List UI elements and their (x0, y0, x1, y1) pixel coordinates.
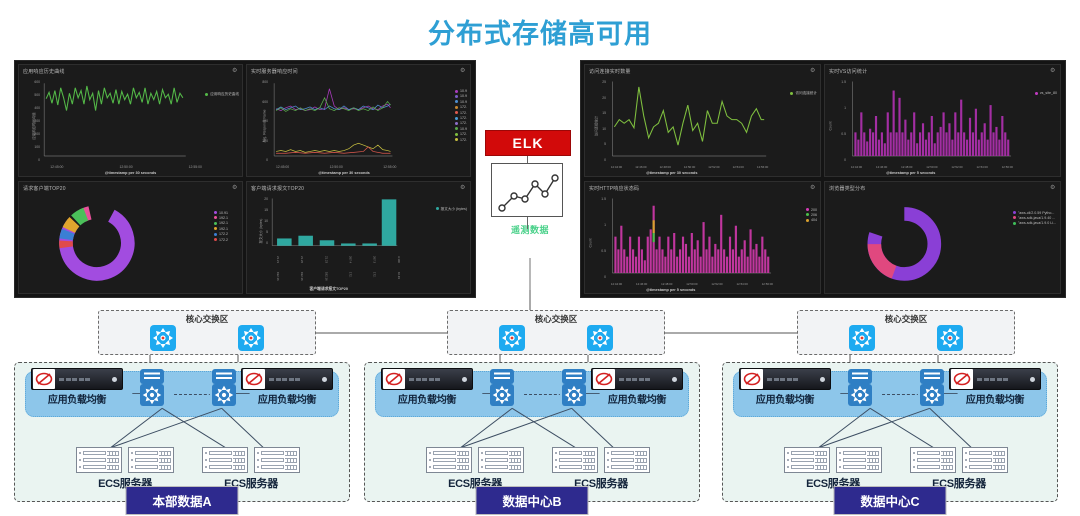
brand-logo-icon (951, 369, 973, 389)
panel-title: 客户端请求报文TOP20 (247, 182, 470, 192)
brand-logo-icon (383, 369, 405, 389)
load-balancer-device-icon (241, 368, 333, 390)
panel-title: 实时VS访问统计 (825, 65, 1060, 75)
ecs-racks (899, 447, 1019, 473)
bar-chart-svg (585, 193, 820, 293)
server-rack-icon (552, 447, 598, 473)
data-center-b[interactable]: 应用负载均衡 应用负载均衡 (364, 362, 700, 502)
server-rack-icon (76, 447, 122, 473)
legend-item: 应用响应历史曲线 (205, 92, 239, 97)
elk-stem-2 (527, 217, 528, 229)
chart-legend[interactable]: 应用响应历史曲线 (205, 92, 239, 97)
x-axis-ticks-2: 192.16 192.16 192.16 172. 172. 10.91 (276, 272, 401, 281)
legend-item: 访问连接统计 (790, 91, 817, 96)
elk-collector[interactable]: ELK 遥测数据 (485, 130, 575, 258)
panel-title: 请求客户端TOP20 (19, 182, 242, 192)
x-axis-label: 客户端请求报文TOP20 (247, 287, 470, 292)
x-axis-ticks: 12:45:0012:50:0012:55:00 (276, 165, 396, 169)
gear-icon[interactable]: ⚙ (232, 68, 238, 74)
brand-logo-icon (243, 369, 265, 389)
panel-client-request-bytes[interactable]: 客户端请求报文TOP20 ⚙ 报文大小 (bytes) 20151050 21.… (246, 181, 471, 294)
legend-item: 172. (455, 138, 467, 143)
dashboard-right[interactable]: 访问连接实时数量 ⚙ 访问连接统计 2520151050 12:44:0012:… (580, 60, 1066, 298)
gear-icon[interactable]: ⚙ (1050, 68, 1056, 74)
x-axis-ticks: 12:44:0012:46:0012:48:0012:50:0012:52:00… (611, 165, 768, 169)
line-chart-svg (585, 76, 820, 176)
load-balancer-right[interactable]: 应用负载均衡 (939, 368, 1051, 406)
data-center-a[interactable]: 应用负载均衡 应用负载均衡 (14, 362, 350, 502)
chart-legend[interactable]: "aws-cli/2.0.59 Pytho... "aws-sdk-java/1… (1013, 211, 1056, 227)
load-balancer-right[interactable]: 应用负载均衡 (581, 368, 693, 406)
x-axis-label: @timestamp per 30 seconds (585, 171, 820, 175)
load-balancer-left[interactable]: 应用负载均衡 (729, 368, 841, 406)
donut-chart-svg (825, 193, 1060, 293)
panel-title: 实时HTTP响应状态码 (585, 182, 820, 192)
network-switch-icon[interactable] (238, 325, 264, 356)
network-switch-icon[interactable] (937, 325, 963, 356)
core-router-icon[interactable] (211, 369, 237, 412)
core-switch-zone-b[interactable]: 核心交换区 (447, 310, 665, 355)
load-balancer-label: 应用负载均衡 (21, 391, 133, 406)
ecs-racks (541, 447, 661, 473)
load-balancer-left[interactable]: 应用负载均衡 (21, 368, 133, 406)
brand-logo-icon (593, 369, 615, 389)
gear-icon[interactable]: ⚙ (232, 185, 238, 191)
chart-legend[interactable]: vs_site_80 (1035, 91, 1057, 96)
chart-legend[interactable]: 访问连接统计 (790, 91, 817, 96)
elk-caption: 遥测数据 (485, 223, 575, 236)
network-switch-icon[interactable] (150, 325, 176, 356)
dashboard-left[interactable]: 应用响应历史曲线 ⚙ 应用响应时间均值 6005004003002001000 … (14, 60, 476, 298)
ecs-racks (415, 447, 535, 473)
ecs-group-right[interactable]: ECS服务器 (191, 447, 311, 491)
load-balancer-device-icon (949, 368, 1041, 390)
chart-legend[interactable]: 200 206 404 (806, 208, 817, 224)
network-switch-icon[interactable] (499, 325, 525, 356)
data-center-badge: 数据中心C (833, 486, 946, 515)
x-axis-ticks: 12:45:0012:50:0012:55:00 (50, 165, 202, 169)
server-rack-icon (604, 447, 650, 473)
network-switch-icon[interactable] (587, 325, 613, 356)
panel-http-status-codes[interactable]: 实时HTTP响应状态码 ⚙ Count 1.510.50 (584, 181, 821, 294)
donut-chart-svg (19, 193, 242, 293)
server-rack-icon (784, 447, 830, 473)
panel-title: 应用响应历史曲线 (19, 65, 242, 75)
core-router-icon[interactable] (139, 369, 165, 412)
plot-area: 10.91 192.1 192.1 192.1 172.2 172.2 (19, 193, 242, 293)
page-title: 分布式存储高可用 (0, 12, 1080, 51)
load-balancer-left[interactable]: 应用负载均衡 (371, 368, 483, 406)
core-zone-icons (448, 325, 664, 356)
gear-icon[interactable]: ⚙ (810, 185, 816, 191)
legend-item: 172.2 (214, 238, 228, 243)
legend-item: 报文大小 (bytes) (436, 207, 467, 212)
panel-browser-distribution[interactable]: 浏览器类型分布 ⚙ "aws-cli/2.0.59 Pytho... "aws-… (824, 181, 1061, 294)
x-axis-ticks: 12:44:0012:46:0012:48:0012:50:0012:52:00… (851, 165, 1013, 169)
panel-title: 实时服务器响应时间 (247, 65, 470, 75)
chart-legend[interactable]: 报文大小 (bytes) (436, 207, 467, 212)
gear-icon[interactable]: ⚙ (460, 185, 466, 191)
chart-legend[interactable]: 10.91 192.1 192.1 192.1 172.2 172.2 (214, 211, 228, 243)
status-led (112, 377, 117, 382)
plot-area: Count 1.510.50 (585, 193, 820, 293)
data-center-badge: 数据中心B (475, 486, 588, 515)
panel-title: 访问连接实时数量 (585, 65, 820, 75)
x-axis-label: @timestamp per 5 seconds (585, 288, 820, 292)
gear-icon[interactable]: ⚙ (460, 68, 466, 74)
x-axis-ticks: 12:44:0012:46:0012:48:0012:50:0012:52:00… (611, 282, 773, 286)
server-rack-icon (910, 447, 956, 473)
load-balancer-label: 应用负载均衡 (581, 391, 693, 406)
core-router-icon[interactable] (847, 369, 873, 412)
ecs-group-left[interactable]: ECS服务器 (65, 447, 185, 491)
plot-area: "aws-cli/2.0.59 Pytho... "aws-sdk-java/1… (825, 193, 1060, 293)
panel-app-response-history[interactable]: 应用响应历史曲线 ⚙ 应用响应时间均值 6005004003002001000 … (18, 64, 243, 177)
core-zone-title: 核心交换区 (798, 313, 1014, 325)
x-axis-label: @timestamp per 5 seconds (825, 171, 1060, 175)
server-rack-icon (202, 447, 248, 473)
legend-item: vs_site_80 (1035, 91, 1057, 96)
elk-badge[interactable]: ELK (485, 130, 571, 156)
status-led (672, 377, 677, 382)
gear-icon[interactable]: ⚙ (810, 68, 816, 74)
server-rack-icon (962, 447, 1008, 473)
bar-chart-svg (825, 76, 1060, 176)
network-switch-icon[interactable] (849, 325, 875, 356)
load-balancer-device-icon (591, 368, 683, 390)
server-rack-icon (254, 447, 300, 473)
ecs-racks (65, 447, 185, 473)
data-center-c[interactable]: 应用负载均衡 应用负载均衡 (722, 362, 1058, 502)
load-balancer-device-icon (381, 368, 473, 390)
load-balancer-label: 应用负载均衡 (939, 391, 1051, 406)
ecs-group-right[interactable]: ECS服务器 (899, 447, 1019, 491)
ecs-group-left[interactable]: ECS服务器 (415, 447, 535, 491)
load-balancer-device-icon (739, 368, 831, 390)
panel-title: 浏览器类型分布 (825, 182, 1060, 192)
line-chart-icon (491, 163, 563, 217)
brand-logo-icon (33, 369, 55, 389)
ecs-racks (191, 447, 311, 473)
status-led (1030, 377, 1035, 382)
panel-top-clients[interactable]: 请求客户端TOP20 ⚙ 10.91 192.1 192.1 192.1 172… (18, 181, 243, 294)
core-switch-zone-c[interactable]: 核心交换区 (797, 310, 1015, 355)
line-chart-svg (19, 76, 242, 176)
panel-vs-access-stats[interactable]: 实时VS访问统计 ⚙ Count 1.510.50 (824, 64, 1061, 177)
status-led (462, 377, 467, 382)
core-zone-icons (798, 325, 1014, 356)
ecs-group-left[interactable]: ECS服务器 (773, 447, 893, 491)
core-switch-zone-a[interactable]: 核心交换区 (98, 310, 316, 355)
server-rack-icon (478, 447, 524, 473)
core-zone-icons (99, 325, 315, 356)
brand-logo-icon (741, 369, 763, 389)
server-rack-icon (426, 447, 472, 473)
multiline-chart-svg (247, 76, 470, 176)
data-center-badge: 本部数据A (125, 486, 238, 515)
plot-area: Count 1.510.50 (825, 76, 1060, 176)
core-router-icon[interactable] (561, 369, 587, 412)
core-zone-title: 核心交换区 (448, 313, 664, 325)
ecs-group-right[interactable]: ECS服务器 (541, 447, 661, 491)
server-rack-icon (836, 447, 882, 473)
server-rack-icon (128, 447, 174, 473)
plot-area: 应用响应时间均值 6005004003002001000 12:45:0012:… (19, 76, 242, 176)
x-axis-label: @timestamp per 30 seconds (247, 171, 470, 175)
load-balancer-device-icon (31, 368, 123, 390)
load-balancer-label: 应用负载均衡 (729, 391, 841, 406)
load-balancer-label: 应用负载均衡 (371, 391, 483, 406)
x-axis-label: @timestamp per 30 seconds (19, 171, 242, 175)
core-router-icon[interactable] (489, 369, 515, 412)
chart-legend[interactable]: 10.9 10.9 10.9 172. 172. 172. 172. 10.9 … (455, 89, 467, 143)
core-zone-title: 核心交换区 (99, 313, 315, 325)
status-led (322, 377, 327, 382)
panel-server-response-time[interactable]: 实时服务器响应时间 ⚙ Avg. Response Name 800600400… (246, 64, 471, 177)
status-led (820, 377, 825, 382)
core-router-icon[interactable] (919, 369, 945, 412)
x-axis-ticks: 21.21 21.26 21.23 267.4 267.3 3.100 (276, 256, 401, 263)
ecs-racks (773, 447, 893, 473)
legend-item: "aws-sdk-java/1.9.0 Li... (1013, 221, 1056, 226)
plot-area: 访问连接统计 2520151050 12:44:0012:46:0012:48:… (585, 76, 820, 176)
load-balancer-right[interactable]: 应用负载均衡 (231, 368, 343, 406)
plot-area: Avg. Response Name 8006004002000 12:45:0… (247, 76, 470, 176)
load-balancer-label: 应用负载均衡 (231, 391, 343, 406)
legend-item: 404 (806, 218, 817, 223)
gear-icon[interactable]: ⚙ (1050, 185, 1056, 191)
panel-connection-count[interactable]: 访问连接实时数量 ⚙ 访问连接统计 2520151050 12:44:0012:… (584, 64, 821, 177)
plot-area: 报文大小 (bytes) 20151050 21.21 21.26 21.23 … (247, 193, 470, 293)
